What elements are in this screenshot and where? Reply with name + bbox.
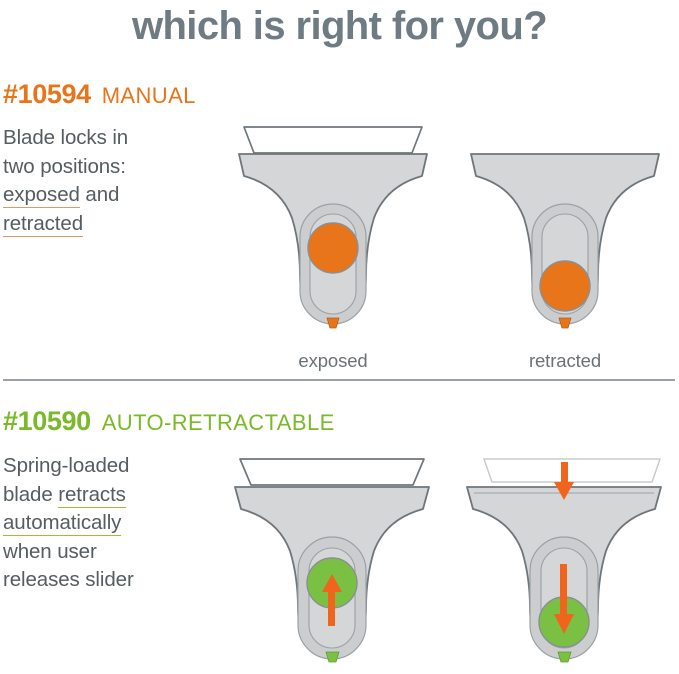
figure-manual-exposed bbox=[236, 126, 430, 341]
infographic-page: which is right for you? #10594MANUAL Bla… bbox=[0, 0, 679, 674]
figure-auto-released bbox=[464, 456, 664, 674]
section-header-auto: #10590AUTO-RETRACTABLE bbox=[3, 406, 335, 437]
bottom-tab bbox=[558, 652, 571, 662]
page-title: which is right for you? bbox=[0, 2, 679, 50]
sku-auto: #10590 bbox=[3, 406, 91, 436]
figure-manual-retracted bbox=[468, 126, 662, 341]
caption-retracted: retracted bbox=[468, 350, 662, 372]
copy-conjunction: and bbox=[80, 183, 120, 206]
copy-line: blade bbox=[3, 483, 58, 506]
blade-exposed-shape bbox=[244, 127, 422, 153]
copy-line: when user bbox=[3, 540, 97, 563]
bottom-tab bbox=[326, 652, 339, 662]
copy-line: two positions: bbox=[3, 155, 126, 178]
emphasis-automatically: automatically bbox=[3, 511, 121, 536]
blade-retracting-shape bbox=[484, 459, 660, 482]
emphasis-retracted: retracted bbox=[3, 212, 83, 237]
copy-line: releases slider bbox=[3, 568, 134, 591]
copy-line: Spring-loaded bbox=[3, 454, 129, 477]
blade-exposed-shape bbox=[240, 459, 424, 485]
bottom-tab bbox=[559, 318, 571, 328]
bottom-tab bbox=[327, 318, 339, 328]
slider-knob bbox=[540, 261, 590, 311]
copy-line: Blade locks in bbox=[3, 126, 128, 149]
emphasis-exposed: exposed bbox=[3, 183, 80, 208]
sku-manual: #10594 bbox=[3, 79, 91, 109]
section-header-manual: #10594MANUAL bbox=[3, 79, 196, 110]
slider-knob bbox=[308, 223, 358, 273]
kind-auto: AUTO-RETRACTABLE bbox=[102, 410, 335, 435]
figure-auto-engaged bbox=[232, 456, 432, 674]
description-manual: Blade locks in two positions: exposed an… bbox=[3, 124, 218, 238]
kind-manual: MANUAL bbox=[102, 83, 196, 108]
emphasis-retracts: retracts bbox=[58, 483, 126, 508]
caption-exposed: exposed bbox=[236, 350, 430, 372]
description-auto: Spring-loaded blade retracts automatical… bbox=[3, 452, 218, 595]
section-divider bbox=[3, 379, 675, 381]
